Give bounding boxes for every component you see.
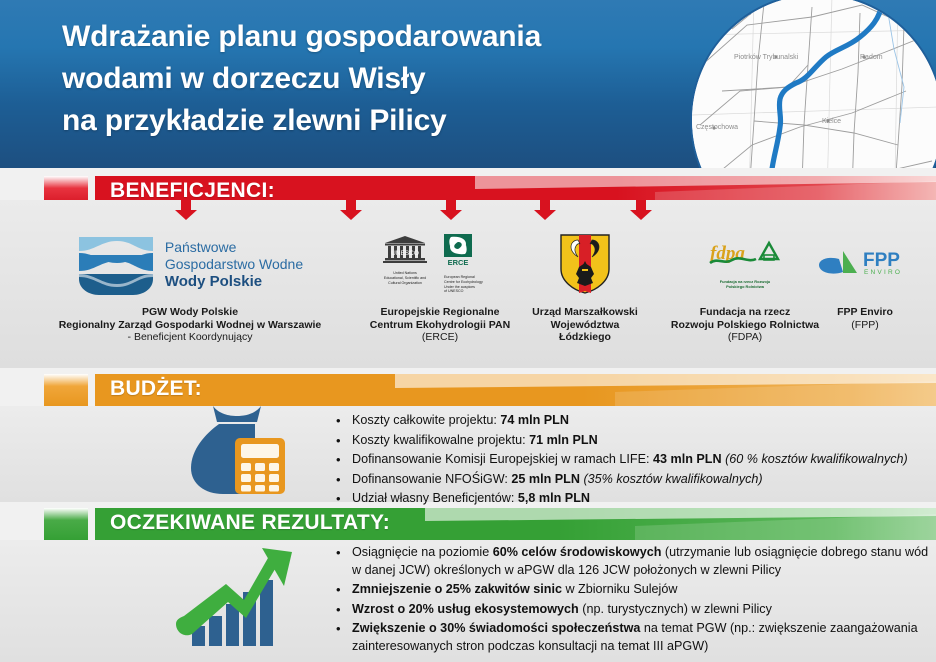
coat-of-arms-icon <box>558 233 612 295</box>
section-label-beneficiaries: BENEFICJENCI: <box>110 179 275 203</box>
lodzkie-voivodeship-coat-of-arms <box>505 222 665 306</box>
result-item-bold: Zwiększenie o 30% świadomości społeczeńs… <box>352 621 640 635</box>
down-arrow-icon-2 <box>340 200 362 220</box>
map-of-pilica-catchment: Łódź Piotrków Trybunalski Radom Częstoch… <box>690 0 936 168</box>
down-arrow-icon-1 <box>175 200 197 220</box>
fdpa-sub-line: Polskiego Rolnictwa <box>708 284 782 289</box>
result-item: Osiągnięcie na poziomie 60% celów środow… <box>350 544 932 579</box>
section-bar-budget: BUDŻET: <box>0 374 936 406</box>
unesco-wordmark: UNESCO <box>391 250 419 257</box>
down-arrow-icon-5 <box>630 200 652 220</box>
map-city-lodz: Łódź <box>736 10 752 17</box>
caption-line: (FDPA) <box>650 331 840 344</box>
money-bag-calculator-icon <box>175 400 295 505</box>
budget-item-lead: Dofinansowanie NFOŚiGW: <box>352 472 511 486</box>
pgw-logo-line-3: Wody Polskie <box>165 273 303 290</box>
budget-item-value: 5,8 mln PLN <box>518 491 590 505</box>
erce-wordmark: ERCE <box>448 258 469 267</box>
beneficiary-caption-erce: Europejskie Regionalne Centrum Ekohydrol… <box>355 306 525 344</box>
budget-item-lead: Udział własny Beneficjentów: <box>352 491 518 505</box>
section-label-budget: BUDŻET: <box>110 377 202 401</box>
budget-item-lead: Koszty kwalifikowalne projektu: <box>352 433 529 447</box>
fdpa-mark-icon: fdpa <box>708 239 782 273</box>
beneficiary-caption-urzad: Urząd Marszałkowski Województwa Łódzkieg… <box>505 306 665 344</box>
title-line-2: wodami w dorzeczu Wisły <box>62 58 702 100</box>
result-item: Zwiększenie o 30% świadomości społeczeńs… <box>350 620 932 655</box>
budget-section: Koszty całkowite projektu: 74 mln PLN Ko… <box>0 406 936 502</box>
caption-line: PGW Wody Polskie <box>30 306 350 319</box>
pgw-logo-text: Państwowe Gospodarstwo Wodne Wody Polski… <box>165 239 303 290</box>
down-arrow-icon-4 <box>534 200 556 220</box>
budget-item-value: 71 mln PLN <box>529 433 598 447</box>
result-item-post: (np. turystycznych) w zlewni Pilicy <box>579 602 772 616</box>
enviro-wordmark: ENVIRO <box>864 269 902 276</box>
map-city-radom: Radom <box>860 54 883 61</box>
caption-line: Centrum Ekohydrologii PAN <box>355 319 525 332</box>
caption-line: Regionalny Zarząd Gospodarki Wodnej w Wa… <box>30 319 350 332</box>
erce-subtitle: European Regional Centre for Ecohydrolog… <box>444 275 506 293</box>
caption-line: Województwa <box>505 319 665 332</box>
title-line-1: Wdrażanie planu gospodarowania <box>62 16 702 58</box>
caption-line: Łódzkiego <box>505 331 665 344</box>
fpp-enviro-logo: FPP ENVIRO <box>800 222 930 306</box>
growth-arrow-chart-icon <box>170 542 300 653</box>
section-label-results: OCZEKIWANE REZULTATY: <box>110 511 390 535</box>
map-svg: Łódź Piotrków Trybunalski Radom Częstoch… <box>692 0 936 168</box>
budget-icon-svg <box>175 400 295 500</box>
beneficiary-erce: UNESCO United Nations Educational, Scien… <box>355 222 525 344</box>
budget-item-value: 25 mln PLN <box>511 472 580 486</box>
result-item-pre: Osiągnięcie na poziomie <box>352 545 493 559</box>
result-item-bold: 60% celów środowiskowych <box>493 545 662 559</box>
result-item: Zmniejszenie o 25% zakwitów sinic w Zbio… <box>350 581 932 599</box>
section-tab-accent-green <box>44 508 88 540</box>
budget-item-lead: Koszty całkowite projektu: <box>352 413 500 427</box>
budget-item-note: (60 % kosztów kwalifikowalnych) <box>722 452 908 466</box>
section-bar-results: OCZEKIWANE REZULTATY: <box>0 508 936 540</box>
budget-item: Koszty całkowite projektu: 74 mln PLN <box>350 412 922 430</box>
fpp-wordmark: FPP <box>863 250 900 271</box>
budget-item: Dofinansowanie NFOŚiGW: 25 mln PLN (35% … <box>350 471 922 489</box>
caption-line: (ERCE) <box>355 331 525 344</box>
beneficiary-pgw-wody-polskie: Państwowe Gospodarstwo Wodne Wody Polski… <box>30 222 350 344</box>
map-city-piotrkow: Piotrków Trybunalski <box>734 54 799 61</box>
caption-line: (FPP) <box>800 319 930 332</box>
pgw-wody-polskie-logo: Państwowe Gospodarstwo Wodne Wody Polski… <box>30 222 350 306</box>
pgw-logo-line-1: Państwowe <box>165 239 303 256</box>
caption-line: Europejskie Regionalne <box>355 306 525 319</box>
budget-item: Dofinansowanie Komisji Europejskiej w ra… <box>350 451 922 469</box>
unesco-subtitle: United Nations Educational, Scientific a… <box>374 271 436 285</box>
erce-sub-line: of UNESCO <box>444 289 506 294</box>
caption-line: FPP Enviro <box>800 306 930 319</box>
map-city-kielce: Kielce <box>822 118 841 125</box>
result-item: Wzrost o 20% usług ekosystemowych (np. t… <box>350 601 932 619</box>
budget-item-lead: Dofinansowanie Komisji Europejskiej w ra… <box>352 452 653 466</box>
down-arrow-icon-3 <box>440 200 462 220</box>
unesco-sub-line: Cultural Organization <box>374 281 436 286</box>
beneficiaries-section: Państwowe Gospodarstwo Wodne Wody Polski… <box>0 200 936 368</box>
budget-item-value: 43 mln PLN <box>653 452 722 466</box>
unesco-erce-logo: UNESCO United Nations Educational, Scien… <box>355 222 525 306</box>
header-banner: Wdrażanie planu gospodarowania wodami w … <box>0 0 936 168</box>
budget-item: Udział własny Beneficjentów: 5,8 mln PLN <box>350 490 922 508</box>
beneficiary-caption-pgw: PGW Wody Polskie Regionalny Zarząd Gospo… <box>30 306 350 344</box>
erce-mark-icon: ERCE <box>444 234 474 268</box>
caption-line: Urząd Marszałkowski <box>505 306 665 319</box>
erce-logo: ERCE European Regional Centre for Ecohyd… <box>444 234 506 293</box>
beneficiary-urzad-marszalkowski: Urząd Marszałkowski Województwa Łódzkieg… <box>505 222 665 344</box>
map-city-czestochowa: Częstochowa <box>696 124 738 131</box>
budget-item-note: (35% kosztów kwalifikowalnych) <box>580 472 763 486</box>
result-item-bold: Wzrost o 20% usług ekosystemowych <box>352 602 579 616</box>
arrow-row <box>0 200 936 222</box>
fdpa-subtitle: Fundacja na rzecz Rozwoju Polskiego Roln… <box>708 279 782 289</box>
budget-item: Koszty kwalifikowalne projektu: 71 mln P… <box>350 432 922 450</box>
unesco-logo: UNESCO United Nations Educational, Scien… <box>374 234 436 285</box>
beneficiary-caption-fpp: FPP Enviro (FPP) <box>800 306 930 331</box>
beneficiary-fpp-enviro: FPP ENVIRO FPP Enviro (FPP) <box>800 222 930 331</box>
budget-bullet-list: Koszty całkowite projektu: 74 mln PLN Ko… <box>332 412 922 510</box>
budget-item-value: 74 mln PLN <box>500 413 569 427</box>
pgw-waves-icon <box>77 231 155 297</box>
title-line-3: na przykładzie zlewni Pilicy <box>62 100 702 142</box>
results-section: Osiągnięcie na poziomie 60% celów środow… <box>0 540 936 662</box>
unesco-temple-icon: UNESCO <box>382 234 428 264</box>
result-item-post: w Zbiorniku Sulejów <box>562 582 678 596</box>
page-title: Wdrażanie planu gospodarowania wodami w … <box>62 16 702 142</box>
pgw-logo-line-2: Gospodarstwo Wodne <box>165 256 303 273</box>
caption-line: - Beneficjent Koordynujący <box>30 331 350 344</box>
result-item-bold: Zmniejszenie o 25% zakwitów sinic <box>352 582 562 596</box>
infographic-page: Wdrażanie planu gospodarowania wodami w … <box>0 0 936 662</box>
results-bullet-list: Osiągnięcie na poziomie 60% celów środow… <box>332 544 932 657</box>
section-tab-accent-orange <box>44 374 88 406</box>
results-icon-svg <box>170 542 300 648</box>
fpp-mark-icon: FPP ENVIRO <box>813 246 917 282</box>
